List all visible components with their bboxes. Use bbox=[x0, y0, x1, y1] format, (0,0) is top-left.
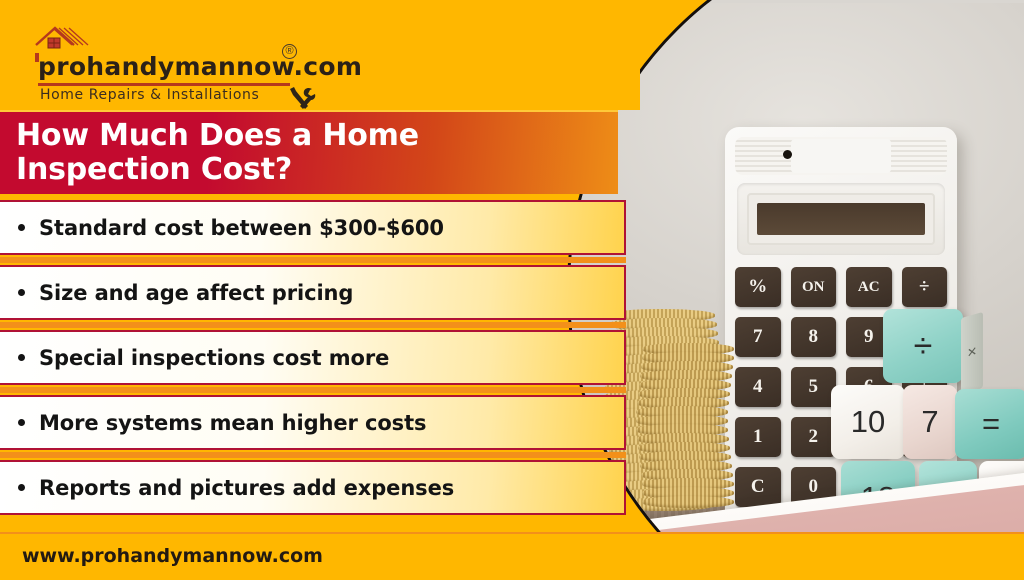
block-equals-label: = bbox=[982, 406, 1000, 442]
brand-tagline: Home Repairs & Installations bbox=[40, 87, 259, 103]
page-title: How Much Does a Home Inspection Cost? bbox=[0, 119, 618, 187]
block-divide-label: ÷ bbox=[914, 327, 933, 366]
bullet-separator bbox=[0, 452, 626, 458]
footer-url[interactable]: www.prohandymannow.com bbox=[22, 545, 323, 567]
bullet-item-label: More systems mean higher costs bbox=[39, 411, 426, 435]
block-seven: 7 bbox=[903, 385, 957, 459]
calculator-key: 2 bbox=[791, 417, 837, 457]
calculator-key: 5 bbox=[791, 367, 837, 407]
registered-trademark-icon: ® bbox=[282, 44, 297, 59]
header-bar: prohandymannow.com Home Repairs & Instal… bbox=[0, 0, 640, 110]
bullet-item-label: Size and age affect pricing bbox=[39, 281, 353, 305]
bullet-dot-icon bbox=[18, 419, 25, 426]
calculator-display-bezel bbox=[747, 193, 935, 245]
coin-stack-back bbox=[639, 343, 739, 523]
bullet-list: Standard cost between $300-$600Size and … bbox=[0, 200, 626, 525]
bullet-item-label: Reports and pictures add expenses bbox=[39, 476, 454, 500]
calculator-key: 1 bbox=[735, 417, 781, 457]
block-multiply-label: × bbox=[967, 343, 976, 364]
block-divide: ÷ × bbox=[883, 309, 963, 383]
brand-underline bbox=[38, 83, 290, 86]
block-multiply-side-face: × bbox=[961, 312, 983, 394]
title-band: How Much Does a Home Inspection Cost? bbox=[0, 110, 618, 194]
footer-bar: www.prohandymannow.com bbox=[0, 532, 1024, 580]
calculator-display-frame bbox=[737, 183, 945, 255]
calculator-solar-panel bbox=[791, 139, 891, 173]
bullet-item: Size and age affect pricing bbox=[0, 265, 626, 320]
calculator-key: AC bbox=[846, 267, 892, 307]
coin bbox=[642, 496, 734, 508]
calculator-key: % bbox=[735, 267, 781, 307]
calculator-key: 7 bbox=[735, 317, 781, 357]
bullet-dot-icon bbox=[18, 354, 25, 361]
bullet-separator bbox=[0, 322, 626, 328]
calculator-key: ON bbox=[791, 267, 837, 307]
calculator-key: 4 bbox=[735, 367, 781, 407]
bullet-dot-icon bbox=[18, 484, 25, 491]
calculator-key: 8 bbox=[791, 317, 837, 357]
bullet-item: More systems mean higher costs bbox=[0, 395, 626, 450]
calculator-top-panel bbox=[735, 137, 947, 175]
bullet-item-label: Standard cost between $300-$600 bbox=[39, 216, 444, 240]
calculator-key: ÷ bbox=[902, 267, 948, 307]
bullet-dot-icon bbox=[18, 289, 25, 296]
bullet-separator bbox=[0, 257, 626, 263]
infographic-canvas: %ONAC÷789×456+123−C0 ÷ × 10 7 = bbox=[0, 0, 1024, 580]
bullet-item: Standard cost between $300-$600 bbox=[0, 200, 626, 255]
bullet-dot-icon bbox=[18, 224, 25, 231]
bullet-separator bbox=[0, 387, 626, 393]
footer-divider bbox=[0, 532, 1024, 534]
bullet-item: Special inspections cost more bbox=[0, 330, 626, 385]
block-ten: 10 bbox=[831, 385, 905, 459]
block-seven-label: 7 bbox=[921, 404, 938, 440]
calculator-display bbox=[757, 203, 925, 235]
block-ten-label: 10 bbox=[851, 404, 885, 440]
bullet-item: Reports and pictures add expenses bbox=[0, 460, 626, 515]
block-equals: = bbox=[955, 389, 1024, 459]
calculator-indicator-dot bbox=[783, 150, 792, 159]
bullet-item-label: Special inspections cost more bbox=[39, 346, 389, 370]
calculator-key: C bbox=[735, 467, 781, 507]
brand-name: prohandymannow.com bbox=[38, 52, 362, 81]
wrench-screwdriver-icon bbox=[286, 86, 316, 112]
